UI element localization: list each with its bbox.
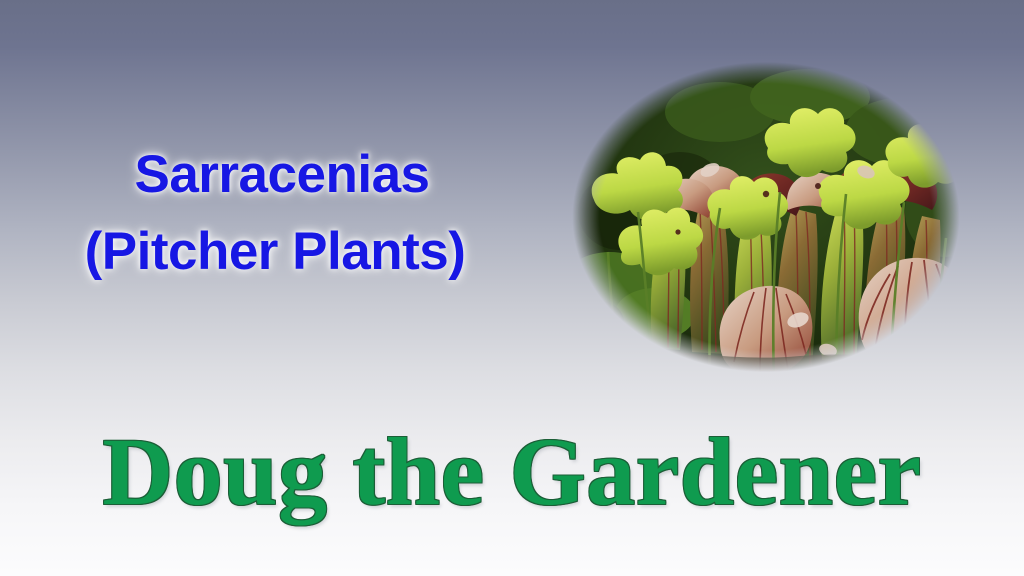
pitcher-plant-illustration xyxy=(560,52,972,382)
heading-line-secondary: (Pitcher Plants) xyxy=(0,225,560,278)
signature-text: Doug the Gardener xyxy=(0,424,1024,520)
pitcher-plant-photo xyxy=(560,52,972,382)
heading-line-primary: Sarracenias xyxy=(4,148,560,201)
heading-block: Sarracenias (Pitcher Plants) xyxy=(0,148,560,278)
title-slide: Sarracenias (Pitcher Plants) xyxy=(0,0,1024,576)
